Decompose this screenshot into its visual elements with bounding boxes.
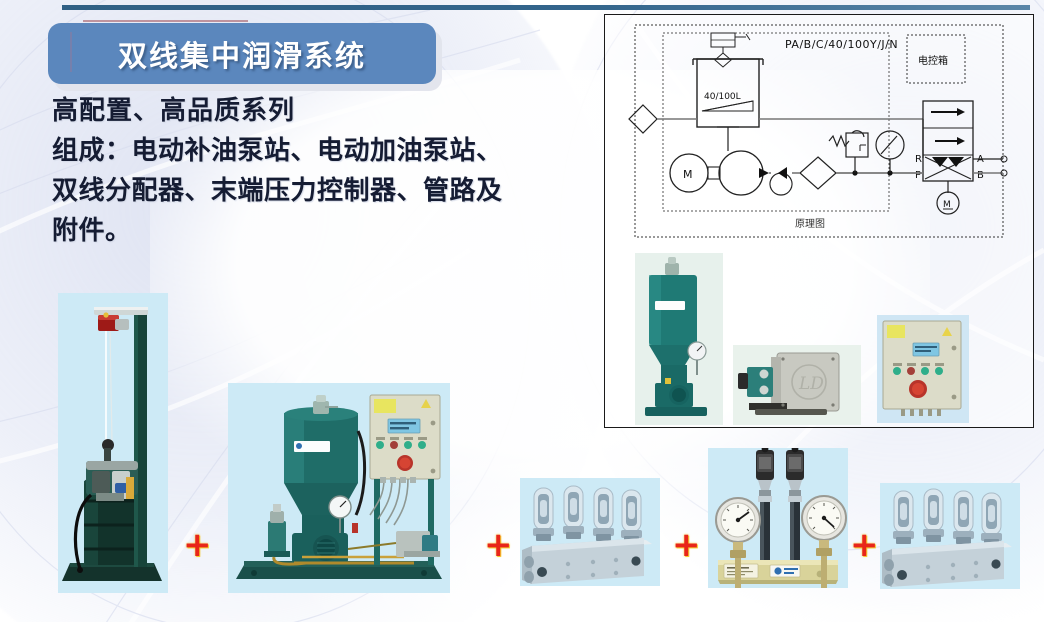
reversing-valve-graphic: LD [733,345,861,425]
port-label-r: R [915,154,922,165]
port-label-b: B [977,170,984,181]
page-title: 双线集中润滑系统 [118,33,366,75]
ld-logo-text: LD [798,374,824,394]
plus-separator-1: + [183,528,212,562]
plus-separator-4: + [850,528,879,562]
tank-capacity-label: 40/100L [704,92,741,102]
model-label: PA/B/C/40/100Y/J/N [785,38,898,51]
banner-tick-mark [70,32,72,72]
slide-root: 双线集中润滑系统 高配置、高品质系列 组成：电动补油泵站、电动加油泵站、 双线分… [0,0,1044,622]
photo-control-cabinet [877,315,969,423]
schematic-caption: 原理图 [795,218,825,230]
body-line-1: 组成：电动补油泵站、电动加油泵站、 [52,131,612,171]
product-dual-line-distributor-left [520,478,660,586]
pump-station-graphic [228,383,450,593]
plus-separator-2: + [484,528,513,562]
title-banner: 双线集中润滑系统 [48,23,436,84]
grease-pump-unit-graphic [635,253,723,425]
product-electric-lubrication-pump-station [228,383,450,593]
drum-pump-station-graphic [58,293,168,593]
control-cabinet-graphic [877,315,969,423]
control-box-label: 电控箱 [918,54,948,67]
distributor-right-graphic [880,483,1020,589]
photo-reversing-valve: LD [733,345,861,425]
photo-grease-pump-unit [635,253,723,425]
motor-label: M [683,168,693,181]
pressure-controller-graphic [708,448,848,588]
body-line-2: 双线分配器、末端压力控制器、管路及 [52,171,612,211]
body-line-3: 附件。 [52,211,612,251]
top-rule [62,5,1030,10]
distributor-left-graphic [520,478,660,586]
product-drum-pump-station [58,293,168,593]
product-terminal-pressure-controller [708,448,848,588]
subtitle-line: 高配置、高品质系列 [52,92,612,131]
port-label-p: P [915,170,921,181]
schematic-panel: 40/100L M [604,14,1034,428]
product-dual-line-distributor-right [880,483,1020,589]
banner-red-line [83,20,248,22]
body-copy: 高配置、高品质系列 组成：电动补油泵站、电动加油泵站、 双线分配器、末端压力控制… [52,92,612,251]
plus-separator-3: + [672,528,701,562]
